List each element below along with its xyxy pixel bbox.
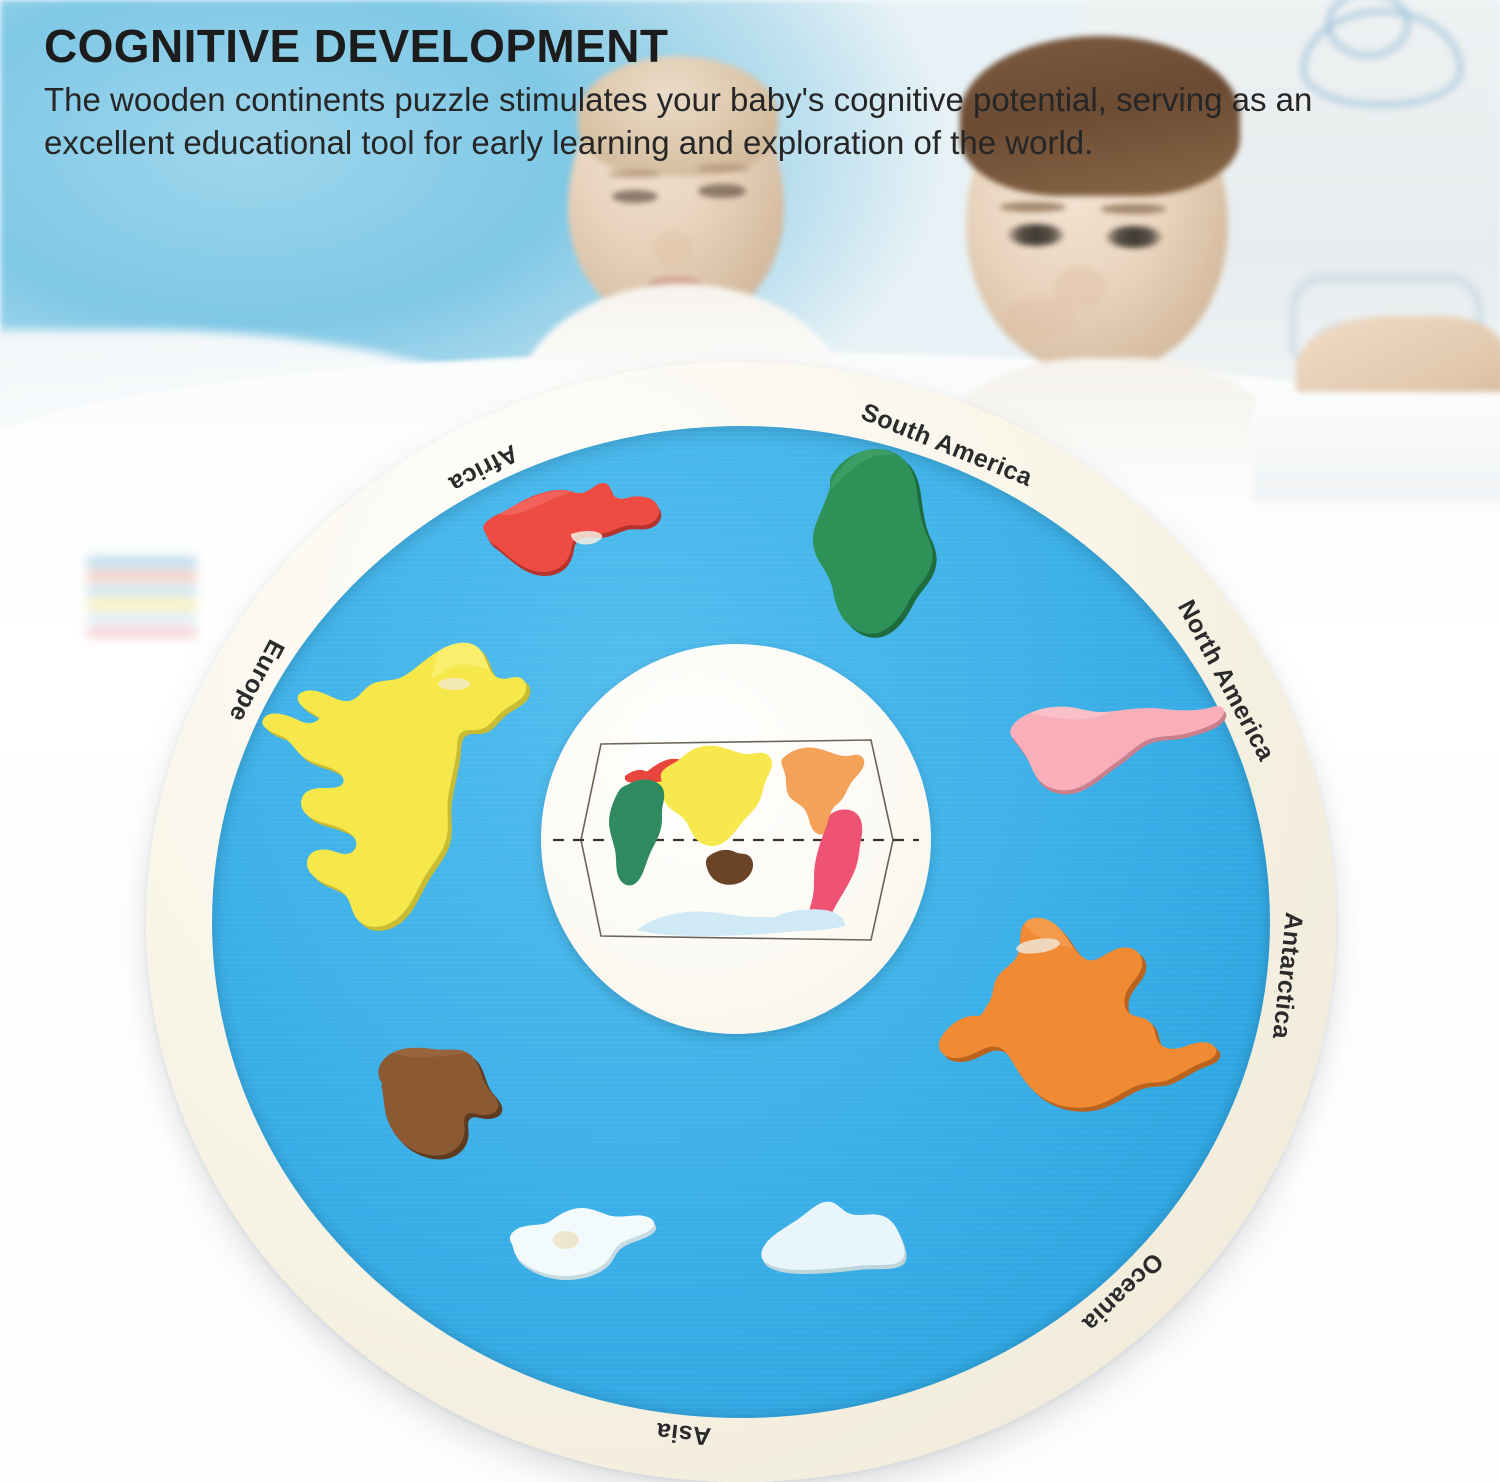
- rim-label-asia: Asia: [655, 1416, 713, 1451]
- antarctica-piece-right[interactable]: [746, 1188, 921, 1288]
- europe-piece[interactable]: [476, 472, 686, 597]
- oceania-piece[interactable]: [364, 1030, 524, 1175]
- world-map-svg: [541, 644, 931, 1034]
- world-map-inset[interactable]: [541, 644, 931, 1034]
- copy-block: COGNITIVE DEVELOPMENT The wooden contine…: [44, 22, 1444, 165]
- south-america-piece[interactable]: [1004, 680, 1234, 820]
- asia-piece[interactable]: [254, 634, 554, 954]
- page-body-text: The wooden continents puzzle stimulates …: [44, 79, 1414, 165]
- page-title: COGNITIVE DEVELOPMENT: [44, 22, 1444, 71]
- map-africa: [609, 780, 664, 886]
- north-america-piece[interactable]: [924, 907, 1234, 1127]
- antarctica-piece-left[interactable]: [501, 1192, 676, 1297]
- continents-puzzle-board[interactable]: EuropeAfricaSouth AmericaNorth AmericaAn…: [146, 362, 1336, 1482]
- map-antarctica-right: [775, 909, 845, 931]
- africa-piece[interactable]: [791, 442, 976, 657]
- map-oceania: [706, 850, 753, 885]
- screenshot-stage: COGNITIVE DEVELOPMENT The wooden contine…: [0, 0, 1500, 1482]
